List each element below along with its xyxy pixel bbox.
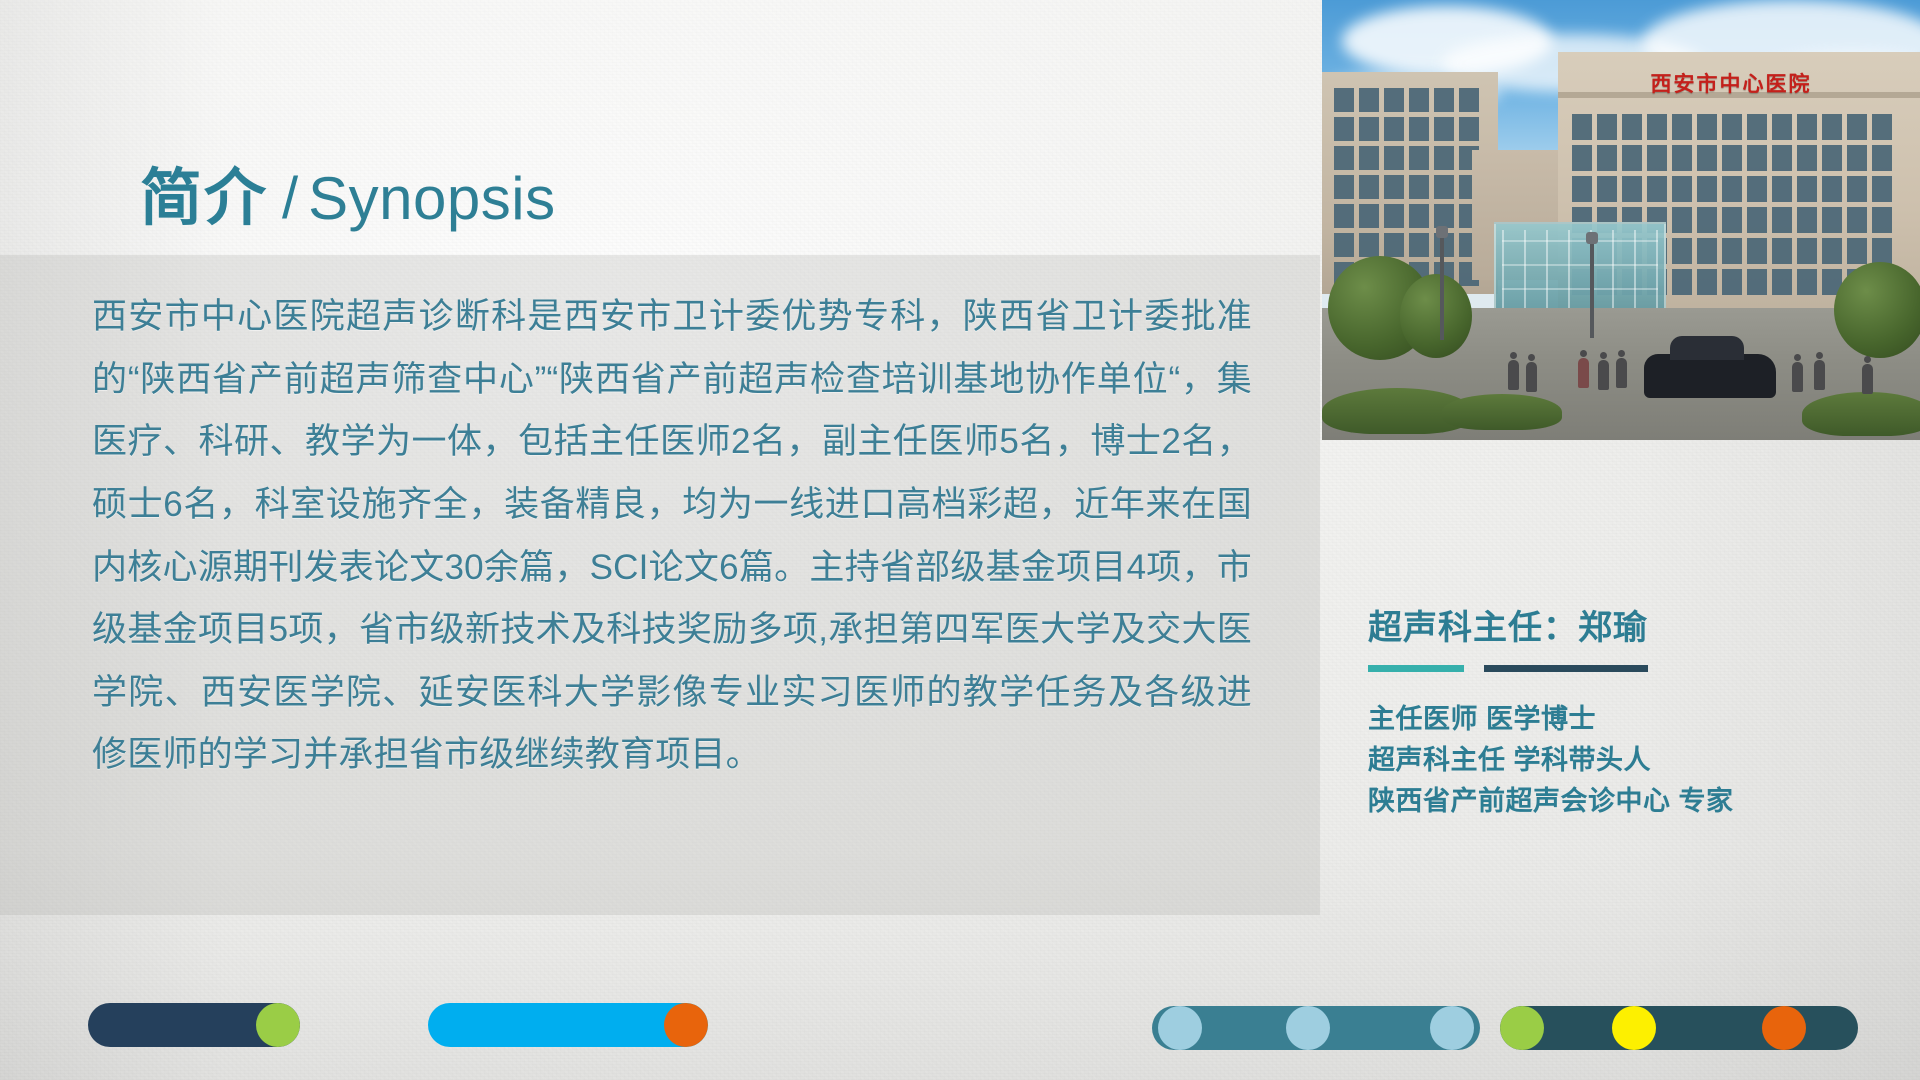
decor-bar-dot <box>1612 1006 1656 1050</box>
person-silhouette <box>1616 358 1627 388</box>
credential-line: 陕西省产前超声会诊中心 专家 <box>1368 782 1888 821</box>
synopsis-body-text: 西安市中心医院超声诊断科是西安市卫计委优势专科，陕西省卫计委批准的“陕西省产前超… <box>92 286 1252 787</box>
divider-segment-dark <box>1484 665 1648 672</box>
tree-icon <box>1834 262 1920 358</box>
decor-bar-dot <box>256 1003 300 1047</box>
person-silhouette <box>1526 362 1537 392</box>
person-silhouette <box>1862 364 1873 394</box>
director-title: 超声科主任：郑瑜 <box>1368 600 1888 649</box>
decor-bar-right-1 <box>1152 1006 1480 1050</box>
decor-bar-left-2 <box>428 1003 708 1047</box>
decor-bar-dot <box>1762 1006 1806 1050</box>
lamp-post-icon <box>1440 236 1444 340</box>
person-silhouette <box>1578 358 1589 388</box>
decor-bar-right-2 <box>1500 1006 1858 1050</box>
person-silhouette <box>1598 360 1609 390</box>
title-separator: / <box>282 166 298 231</box>
decor-bar-dot <box>1430 1006 1474 1050</box>
hospital-photo: 西安市中心医院 <box>1322 0 1920 440</box>
person-silhouette <box>1508 360 1519 390</box>
entrance-atrium <box>1494 222 1666 322</box>
lamp-post-icon <box>1590 242 1594 338</box>
page-title-cn: 简介 <box>140 164 268 233</box>
shrub-icon <box>1442 394 1562 430</box>
page-title: 简介/Synopsis <box>140 168 556 230</box>
photo-image: 西安市中心医院 <box>1322 0 1920 440</box>
hospital-sign-text: 西安市中心医院 <box>1612 66 1850 100</box>
divider-segment-light <box>1368 665 1464 672</box>
window-grid <box>1334 88 1479 286</box>
page-title-en: Synopsis <box>308 165 555 232</box>
divider <box>1368 665 1888 672</box>
parked-car <box>1644 354 1776 398</box>
shrub-icon <box>1802 392 1920 436</box>
credential-line: 主任医师 医学博士 <box>1368 700 1888 739</box>
director-info: 超声科主任：郑瑜 主任医师 医学博士 超声科主任 学科带头人 陕西省产前超声会诊… <box>1368 600 1888 823</box>
decor-bar-left-1 <box>88 1003 300 1047</box>
director-credentials: 主任医师 医学博士 超声科主任 学科带头人 陕西省产前超声会诊中心 专家 <box>1368 700 1888 821</box>
decor-bar-dot <box>664 1003 708 1047</box>
slide-canvas: 简介/Synopsis 西安市中心医院超声诊断科是西安市卫计委优势专科，陕西省卫… <box>0 0 1920 1080</box>
person-silhouette <box>1814 360 1825 390</box>
person-silhouette <box>1792 362 1803 392</box>
decor-bar-dot <box>1158 1006 1202 1050</box>
tree-icon <box>1400 274 1472 358</box>
plaza-ground <box>1322 308 1920 440</box>
credential-line: 超声科主任 学科带头人 <box>1368 741 1888 780</box>
decor-bar-dot <box>1500 1006 1544 1050</box>
decor-bar-dot <box>1286 1006 1330 1050</box>
